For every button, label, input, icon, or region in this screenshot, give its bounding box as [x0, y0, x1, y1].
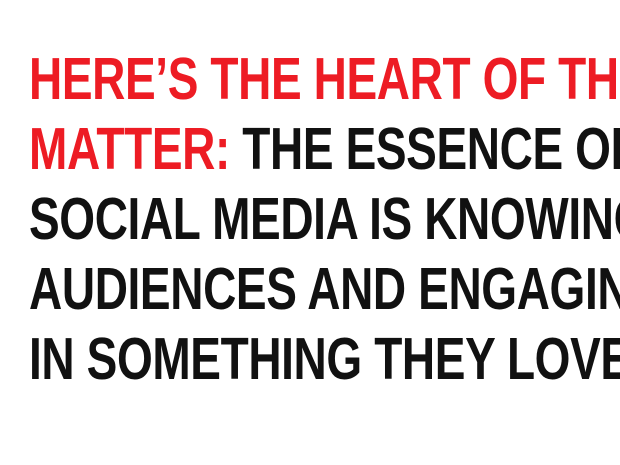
quote-line-1: HERE’S THE HEART OF THE	[29, 44, 478, 114]
quote-line-2: MATTER: THE ESSENCE OF	[29, 114, 478, 184]
quote-line-3-segment-body: SOCIAL MEDIA IS KNOWING YOUR	[29, 186, 620, 252]
quote-line-5: IN SOMETHING THEY LOVE.	[29, 324, 478, 394]
quote-line-2-segment-body: THE ESSENCE OF	[230, 116, 620, 182]
quote-line-5-segment-body: IN SOMETHING THEY LOVE.	[29, 326, 620, 392]
quote-line-1-segment-emphasis: HERE’S THE HEART OF THE	[29, 46, 620, 112]
quote-line-4-segment-body: AUDIENCES AND ENGAGING THEM	[29, 256, 620, 322]
quote-slide: HERE’S THE HEART OF THE MATTER: THE ESSE…	[0, 0, 620, 465]
quote-line-2-segment-emphasis: MATTER:	[29, 116, 230, 182]
quote-line-3: SOCIAL MEDIA IS KNOWING YOUR	[29, 184, 478, 254]
quote-text-block: HERE’S THE HEART OF THE MATTER: THE ESSE…	[29, 44, 605, 394]
quote-line-4: AUDIENCES AND ENGAGING THEM	[29, 254, 478, 324]
